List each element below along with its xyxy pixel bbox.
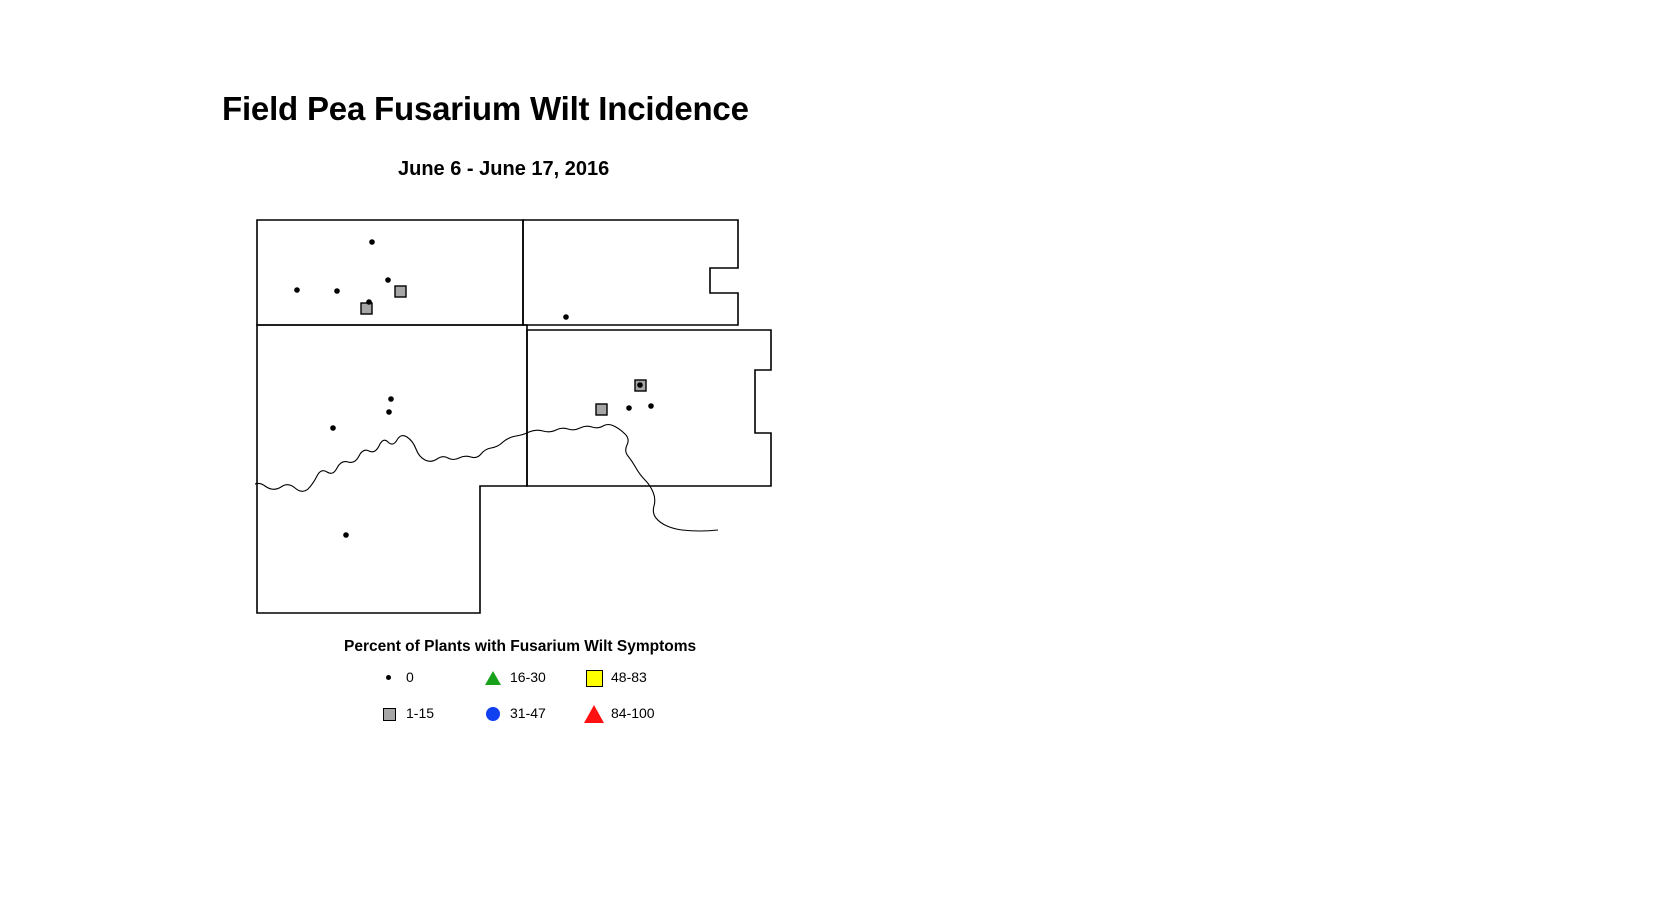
marker-black-dot — [334, 288, 340, 294]
marker-black-dot — [637, 382, 643, 388]
legend: 0 16-30 48-83 1-15 31-47 84-100 — [378, 666, 718, 738]
legend-label: 1-15 — [406, 705, 434, 721]
legend-label: 16-30 — [510, 669, 546, 685]
marker-black-dot — [626, 405, 632, 411]
green-triangle-icon — [482, 666, 504, 688]
legend-item-1-15: 1-15 — [378, 702, 434, 724]
marker-gray-square — [395, 286, 406, 297]
page-title: Field Pea Fusarium Wilt Incidence — [222, 90, 749, 128]
legend-item-16-30: 16-30 — [482, 666, 546, 688]
marker-black-dot — [385, 277, 391, 283]
legend-item-48-83: 48-83 — [583, 666, 647, 688]
map-figure: Field Pea Fusarium Wilt Incidence June 6… — [0, 0, 1673, 900]
legend-item-84-100: 84-100 — [583, 702, 655, 724]
marker-black-dot — [294, 287, 300, 293]
marker-black-dot — [563, 314, 569, 320]
blue-circle-icon — [482, 702, 504, 724]
black-dot-icon — [378, 666, 400, 688]
county-outline-northwest — [257, 220, 523, 325]
legend-row: 1-15 31-47 84-100 — [378, 702, 718, 738]
marker-black-dot — [369, 239, 375, 245]
yellow-square-icon — [583, 666, 605, 688]
legend-item-31-47: 31-47 — [482, 702, 546, 724]
marker-gray-square — [361, 303, 372, 314]
legend-label: 0 — [406, 669, 414, 685]
county-outline-east — [527, 330, 771, 486]
map-canvas — [255, 218, 785, 618]
legend-label: 48-83 — [611, 669, 647, 685]
county-outline-southwest — [257, 325, 527, 613]
marker-black-dot — [388, 396, 394, 402]
legend-title: Percent of Plants with Fusarium Wilt Sym… — [344, 638, 696, 656]
page-subtitle: June 6 - June 17, 2016 — [398, 158, 609, 181]
legend-label: 84-100 — [611, 705, 655, 721]
legend-row: 0 16-30 48-83 — [378, 666, 718, 702]
marker-black-dot — [386, 409, 392, 415]
marker-black-dot — [648, 403, 654, 409]
county-map-svg — [255, 218, 785, 618]
red-triangle-icon — [583, 702, 605, 724]
data-markers — [294, 239, 654, 538]
marker-black-dot — [330, 425, 336, 431]
gray-square-icon — [378, 702, 400, 724]
marker-gray-square — [596, 404, 607, 415]
legend-item-0: 0 — [378, 666, 414, 688]
county-boundaries — [257, 220, 771, 613]
marker-black-dot — [343, 532, 349, 538]
county-outline-northeast — [523, 220, 738, 325]
legend-label: 31-47 — [510, 705, 546, 721]
marker-black-dot — [366, 299, 372, 305]
river-boundary — [255, 425, 718, 532]
